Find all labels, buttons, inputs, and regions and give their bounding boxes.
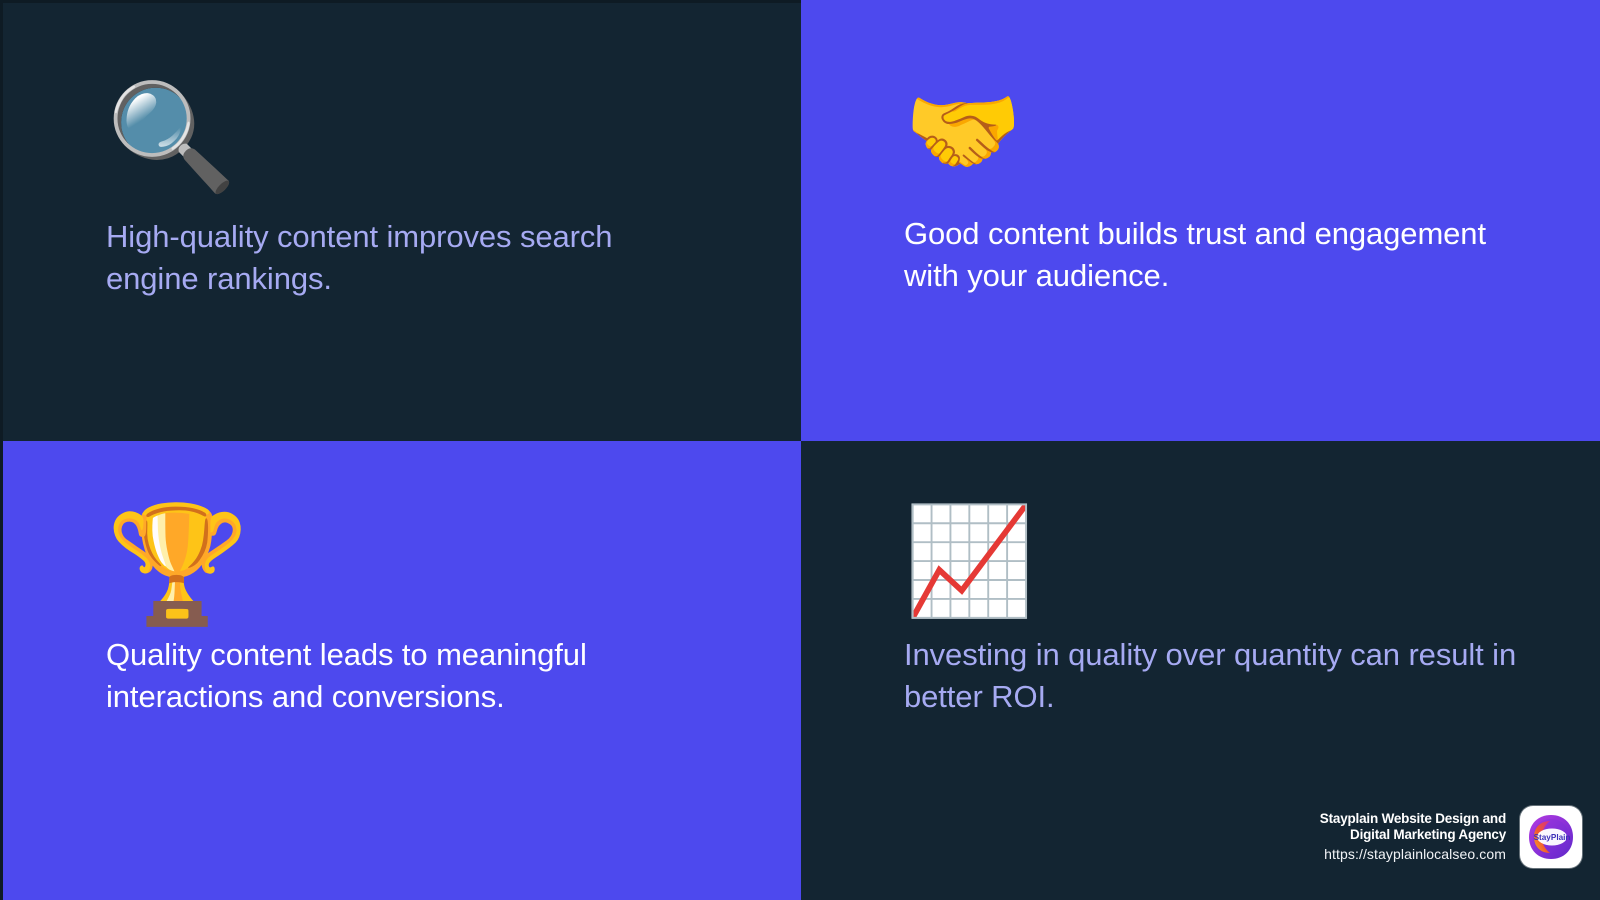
logo-wordmark: StayPlain bbox=[1534, 833, 1571, 842]
magnifying-glass-icon: 🔍 bbox=[106, 85, 237, 190]
stayplain-logo[interactable]: StayPlain bbox=[1520, 806, 1582, 868]
logo-mark: StayPlain bbox=[1529, 815, 1573, 859]
card-search-rankings: 🔍 High-quality content improves search e… bbox=[0, 0, 801, 441]
trophy-icon: 🏆 bbox=[106, 508, 249, 623]
card-trust-engagement: 🤝 Good content builds trust and engageme… bbox=[801, 0, 1600, 441]
handshake-icon: 🤝 bbox=[904, 85, 1022, 180]
card-icon-slot: 📈 bbox=[904, 489, 1035, 614]
card-meaningful-interactions: 🏆 Quality content leads to meaningful in… bbox=[0, 441, 801, 900]
brand-name: Stayplain Website Design and Digital Mar… bbox=[1320, 811, 1506, 843]
card-icon-slot: 🔍 bbox=[106, 55, 237, 190]
card-caption: Good content builds trust and engagement… bbox=[904, 213, 1524, 296]
card-caption: Investing in quality over quantity can r… bbox=[904, 634, 1524, 717]
card-icon-slot: 🏆 bbox=[106, 483, 249, 623]
brand-footer: Stayplain Website Design and Digital Mar… bbox=[1320, 806, 1582, 868]
brand-text-block: Stayplain Website Design and Digital Mar… bbox=[1320, 811, 1506, 863]
card-caption: High-quality content improves search eng… bbox=[106, 216, 706, 299]
card-icon-slot: 🤝 bbox=[904, 80, 1022, 180]
chart-increasing-icon: 📈 bbox=[904, 509, 1035, 614]
card-caption: Quality content leads to meaningful inte… bbox=[106, 634, 726, 717]
infographic-canvas: 🔍 High-quality content improves search e… bbox=[0, 0, 1600, 900]
brand-url[interactable]: https://stayplainlocalseo.com bbox=[1320, 845, 1506, 863]
